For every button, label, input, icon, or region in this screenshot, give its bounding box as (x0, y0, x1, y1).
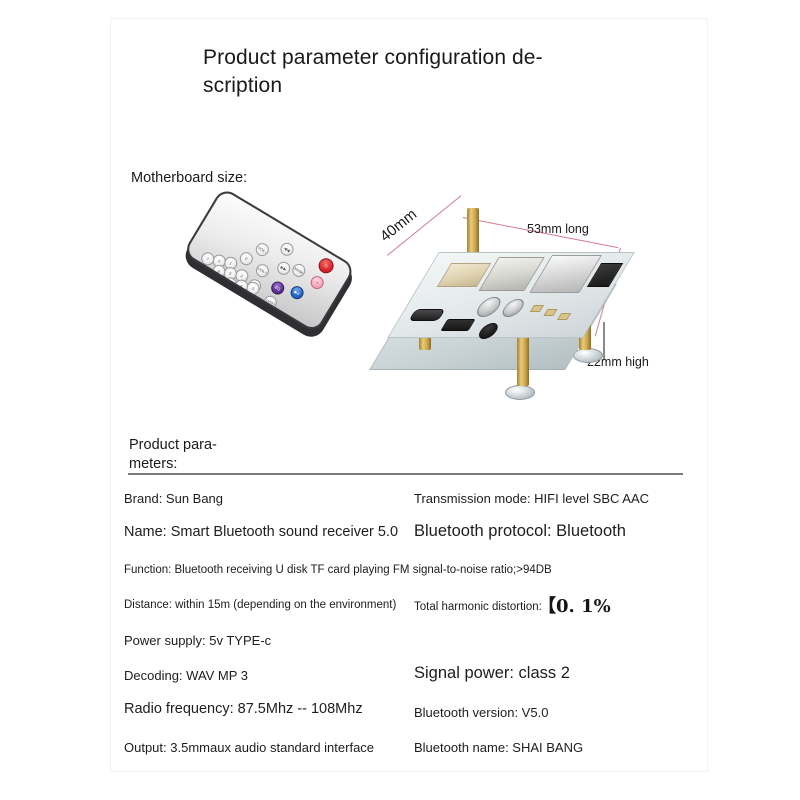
param-signal-power: Signal power: class 2 (414, 664, 570, 683)
param-brand: Brand: Sun Bang (124, 491, 223, 506)
param-output: Output: 3.5mmaux audio standard interfac… (124, 740, 374, 755)
param-transmission-mode: Transmission mode: HIFI level SBC AAC (414, 491, 649, 506)
param-distance: Distance: within 15m (depending on the e… (124, 599, 396, 611)
param-decoding: Decoding: WAV MP 3 (124, 668, 248, 683)
param-bluetooth-name: Bluetooth name: SHAI BANG (414, 740, 583, 755)
param-thd-value: 【0. 1% (538, 592, 611, 618)
param-name: Name: Smart Bluetooth sound receiver 5.0 (124, 524, 398, 540)
product-spec-page: Product parameter configuration de-scrip… (0, 0, 800, 800)
param-power-supply: Power supply: 5v TYPE-c (124, 633, 271, 648)
param-bluetooth-protocol: Bluetooth protocol: Bluetooth (414, 522, 626, 541)
product-parameters-table: Brand: Sun Bang Transmission mode: HIFI … (0, 0, 800, 800)
param-thd-label: Total harmonic distortion: (414, 601, 542, 613)
param-radio-frequency: Radio frequency: 87.5Mhz -- 108Mhz (124, 701, 363, 717)
param-bluetooth-version: Bluetooth version: V5.0 (414, 705, 548, 720)
param-function: Function: Bluetooth receiving U disk TF … (124, 564, 552, 576)
